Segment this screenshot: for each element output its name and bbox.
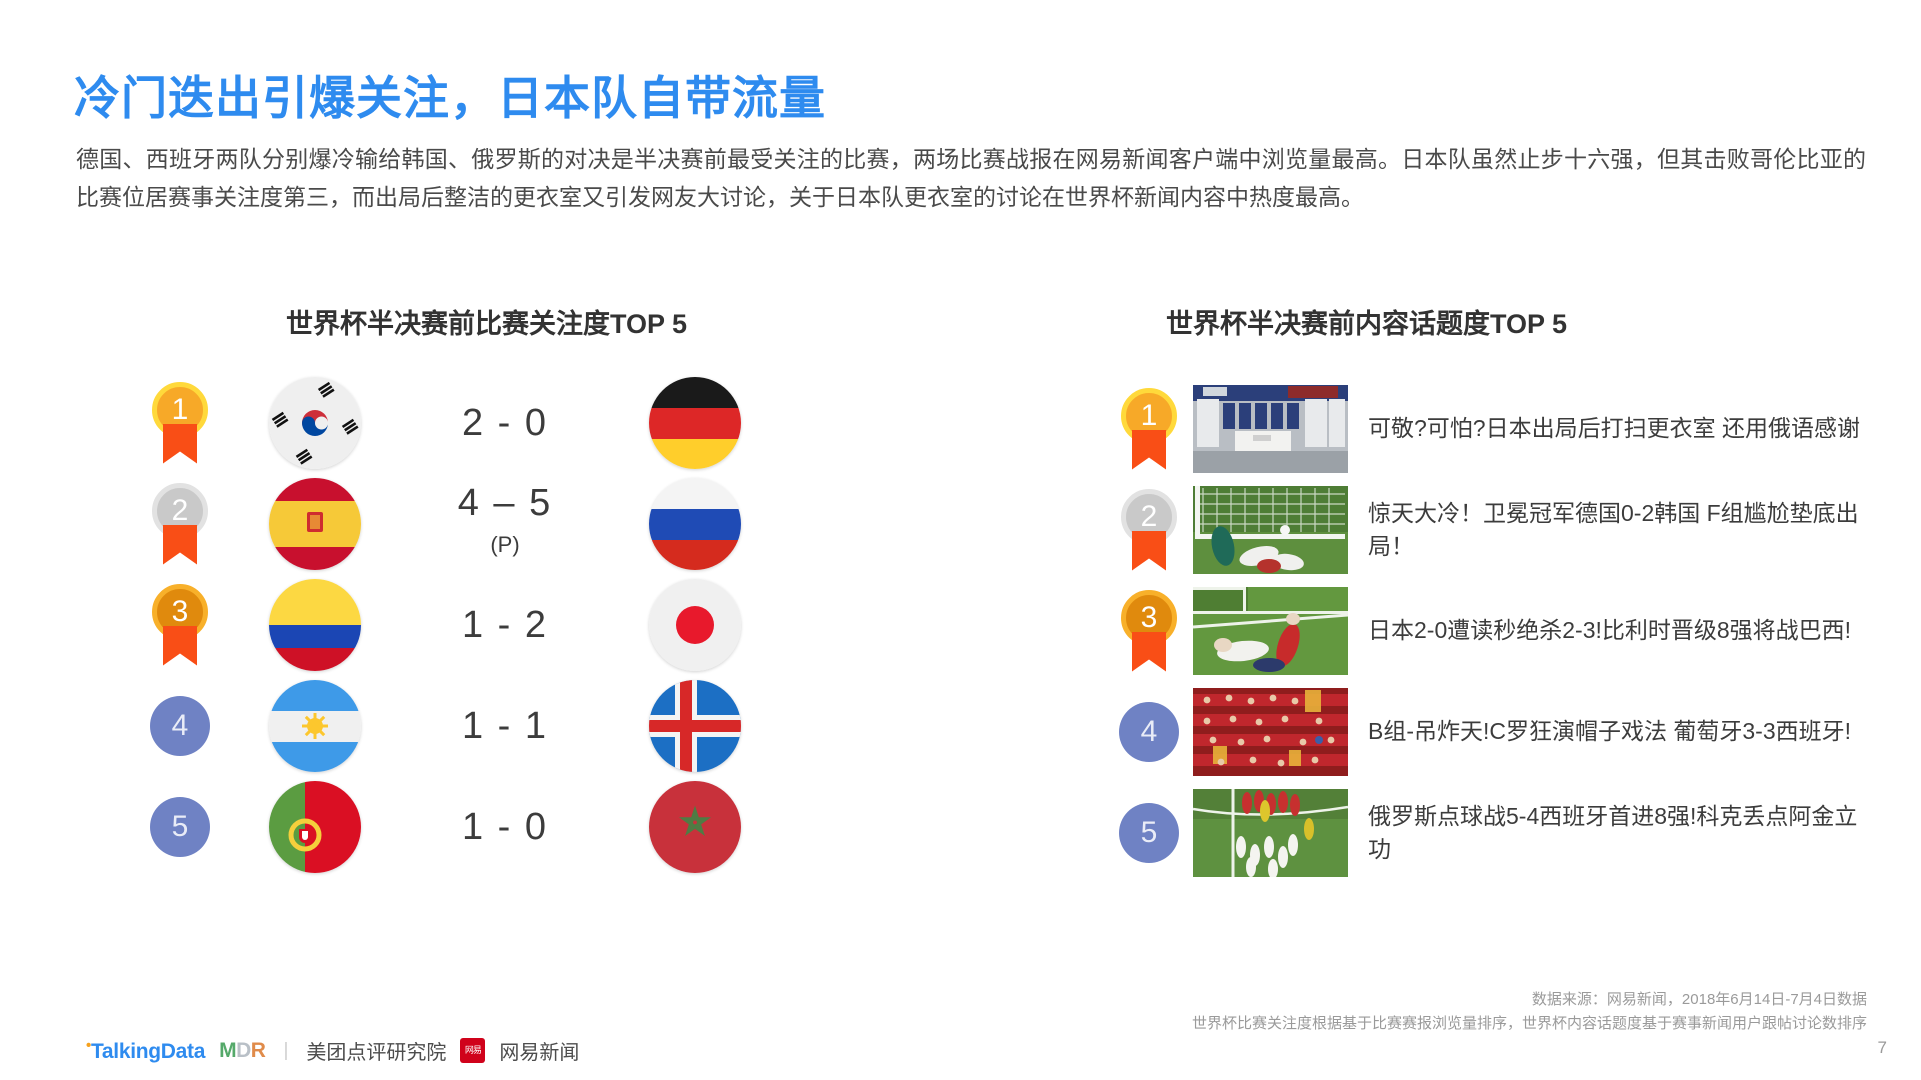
rank-badge: 5 xyxy=(1119,803,1179,863)
news-thumbnail-goal-save[interactable] xyxy=(1193,486,1348,574)
score-cell: 2 - 0 xyxy=(390,403,620,443)
mdr-logo: MDR xyxy=(219,1039,265,1063)
rank-cell: 5 xyxy=(120,797,240,857)
home-flag-cell xyxy=(240,680,390,772)
flag-iceland-icon xyxy=(649,680,741,772)
netease-news-label: 网易新闻 xyxy=(499,1036,579,1065)
medal-gold-icon: 1 xyxy=(149,382,211,464)
flag-russia-icon xyxy=(649,478,741,570)
news-thumbnail-penalty-celebration[interactable] xyxy=(1193,789,1348,877)
rank-cell: 1 xyxy=(1105,388,1193,470)
news-thumbnail-red-crowd[interactable] xyxy=(1193,688,1348,776)
netease-logo-icon: 网易 xyxy=(460,1038,485,1063)
away-flag-cell xyxy=(620,781,770,873)
score-cell: 4 – 5 (P) xyxy=(390,483,620,565)
ribbon-icon xyxy=(1132,531,1166,571)
footnote-source: 数据来源：网易新闻，2018年6月14日-7月4日数据 xyxy=(1192,988,1867,1012)
score-cell: 1 - 0 xyxy=(390,807,620,847)
list-item[interactable]: 5 xyxy=(1105,782,1895,883)
flag-germany-icon xyxy=(649,377,741,469)
table-row: 1 2 - 0 xyxy=(120,372,880,473)
away-flag-cell xyxy=(620,478,770,570)
medal-bronze-icon: 3 xyxy=(1118,590,1180,672)
page-number: 7 xyxy=(1878,1038,1887,1058)
score-value: 4 – 5 xyxy=(458,482,553,524)
list-item[interactable]: 1 xyxy=(1105,378,1895,479)
score-note: (P) xyxy=(390,525,620,565)
flag-portugal-icon xyxy=(269,781,361,873)
news-title[interactable]: 惊天大冷！卫冕冠军德国0-2韩国 F组尴尬垫底出局！ xyxy=(1368,497,1868,563)
medal-gold-icon: 1 xyxy=(1118,388,1180,470)
rank-cell: 1 xyxy=(120,382,240,464)
medal-bronze-icon: 3 xyxy=(149,584,211,666)
match-ranking-list: 1 2 - 0 xyxy=(120,372,880,877)
page-title: 冷门迭出引爆关注，日本队自带流量 xyxy=(74,62,826,128)
medal-silver-icon: 2 xyxy=(1118,489,1180,571)
news-title[interactable]: B组-吊炸天!C罗狂演帽子戏法 葡萄牙3-3西班牙! xyxy=(1368,715,1868,748)
rank-cell: 3 xyxy=(120,584,240,666)
home-flag-cell xyxy=(240,579,390,671)
rank-cell: 4 xyxy=(120,696,240,756)
flag-morocco-icon xyxy=(649,781,741,873)
medal-silver-icon: 2 xyxy=(149,483,211,565)
news-title[interactable]: 俄罗斯点球战5-4西班牙首进8强!科克丢点阿金立功 xyxy=(1368,800,1868,866)
section-title-matches: 世界杯半决赛前比赛关注度TOP 5 xyxy=(286,302,687,341)
ribbon-icon xyxy=(163,626,197,666)
flag-argentina-icon xyxy=(269,680,361,772)
away-flag-cell xyxy=(620,377,770,469)
rank-cell: 5 xyxy=(1105,803,1193,863)
home-flag-cell xyxy=(240,478,390,570)
table-row: 2 4 – 5 (P) xyxy=(120,473,880,574)
flag-spain-icon xyxy=(269,478,361,570)
news-thumbnail-locker-room[interactable] xyxy=(1193,385,1348,473)
news-title[interactable]: 可敬?可怕?日本出局后打扫更衣室 还用俄语感谢 xyxy=(1368,412,1868,445)
table-row: 4 1 - 1 xyxy=(120,675,880,776)
ribbon-icon xyxy=(1132,430,1166,470)
score-value: 1 - 0 xyxy=(462,806,548,848)
list-item[interactable]: 2 惊天大冷！卫冕冠军德国0-2韩国 F组尴尬垫底出局！ xyxy=(1105,479,1895,580)
list-item[interactable]: 3 日本2-0遭读秒绝杀2-3!比利时晋级8强将战巴西! xyxy=(1105,580,1895,681)
intro-paragraph: 德国、西班牙两队分别爆冷输给韩国、俄罗斯的对决是半决赛前最受关注的比赛，两场比赛… xyxy=(76,140,1866,216)
ribbon-icon xyxy=(163,525,197,565)
score-cell: 1 - 1 xyxy=(390,706,620,746)
list-item[interactable]: 4 xyxy=(1105,681,1895,782)
rank-cell: 2 xyxy=(120,483,240,565)
section-title-news: 世界杯半决赛前内容话题度TOP 5 xyxy=(1166,302,1567,341)
footnotes: 数据来源：网易新闻，2018年6月14日-7月4日数据 世界杯比赛关注度根据基于… xyxy=(1192,988,1867,1036)
news-ranking-list: 1 xyxy=(1105,378,1895,883)
rank-cell: 2 xyxy=(1105,489,1193,571)
score-value: 2 - 0 xyxy=(462,402,548,444)
rank-badge: 4 xyxy=(150,696,210,756)
ribbon-icon xyxy=(163,424,197,464)
table-row: 5 1 - 0 xyxy=(120,776,880,877)
rank-cell: 3 xyxy=(1105,590,1193,672)
flag-south-korea-icon xyxy=(269,377,361,469)
footer-logos: •TalkingData MDR | 美团点评研究院 网易 网易新闻 xyxy=(86,1036,579,1065)
rank-badge: 5 xyxy=(150,797,210,857)
news-thumbnail-japan-defeat[interactable] xyxy=(1193,587,1348,675)
flag-japan-icon xyxy=(649,579,741,671)
score-value: 1 - 2 xyxy=(462,604,548,646)
meituan-research-label: 美团点评研究院 xyxy=(306,1036,446,1065)
footnote-method: 世界杯比赛关注度根据基于比赛赛报浏览量排序，世界杯内容话题度基于赛事新闻用户跟帖… xyxy=(1192,1012,1867,1036)
flag-colombia-icon xyxy=(269,579,361,671)
talkingdata-logo: •TalkingData xyxy=(86,1037,205,1064)
news-title[interactable]: 日本2-0遭读秒绝杀2-3!比利时晋级8强将战巴西! xyxy=(1368,614,1868,647)
ribbon-icon xyxy=(1132,632,1166,672)
home-flag-cell xyxy=(240,781,390,873)
away-flag-cell xyxy=(620,680,770,772)
rank-badge: 4 xyxy=(1119,702,1179,762)
away-flag-cell xyxy=(620,579,770,671)
table-row: 3 1 - 2 xyxy=(120,574,880,675)
rank-cell: 4 xyxy=(1105,702,1193,762)
score-value: 1 - 1 xyxy=(462,705,548,747)
logo-divider: | xyxy=(283,1040,288,1062)
score-cell: 1 - 2 xyxy=(390,605,620,645)
home-flag-cell xyxy=(240,377,390,469)
